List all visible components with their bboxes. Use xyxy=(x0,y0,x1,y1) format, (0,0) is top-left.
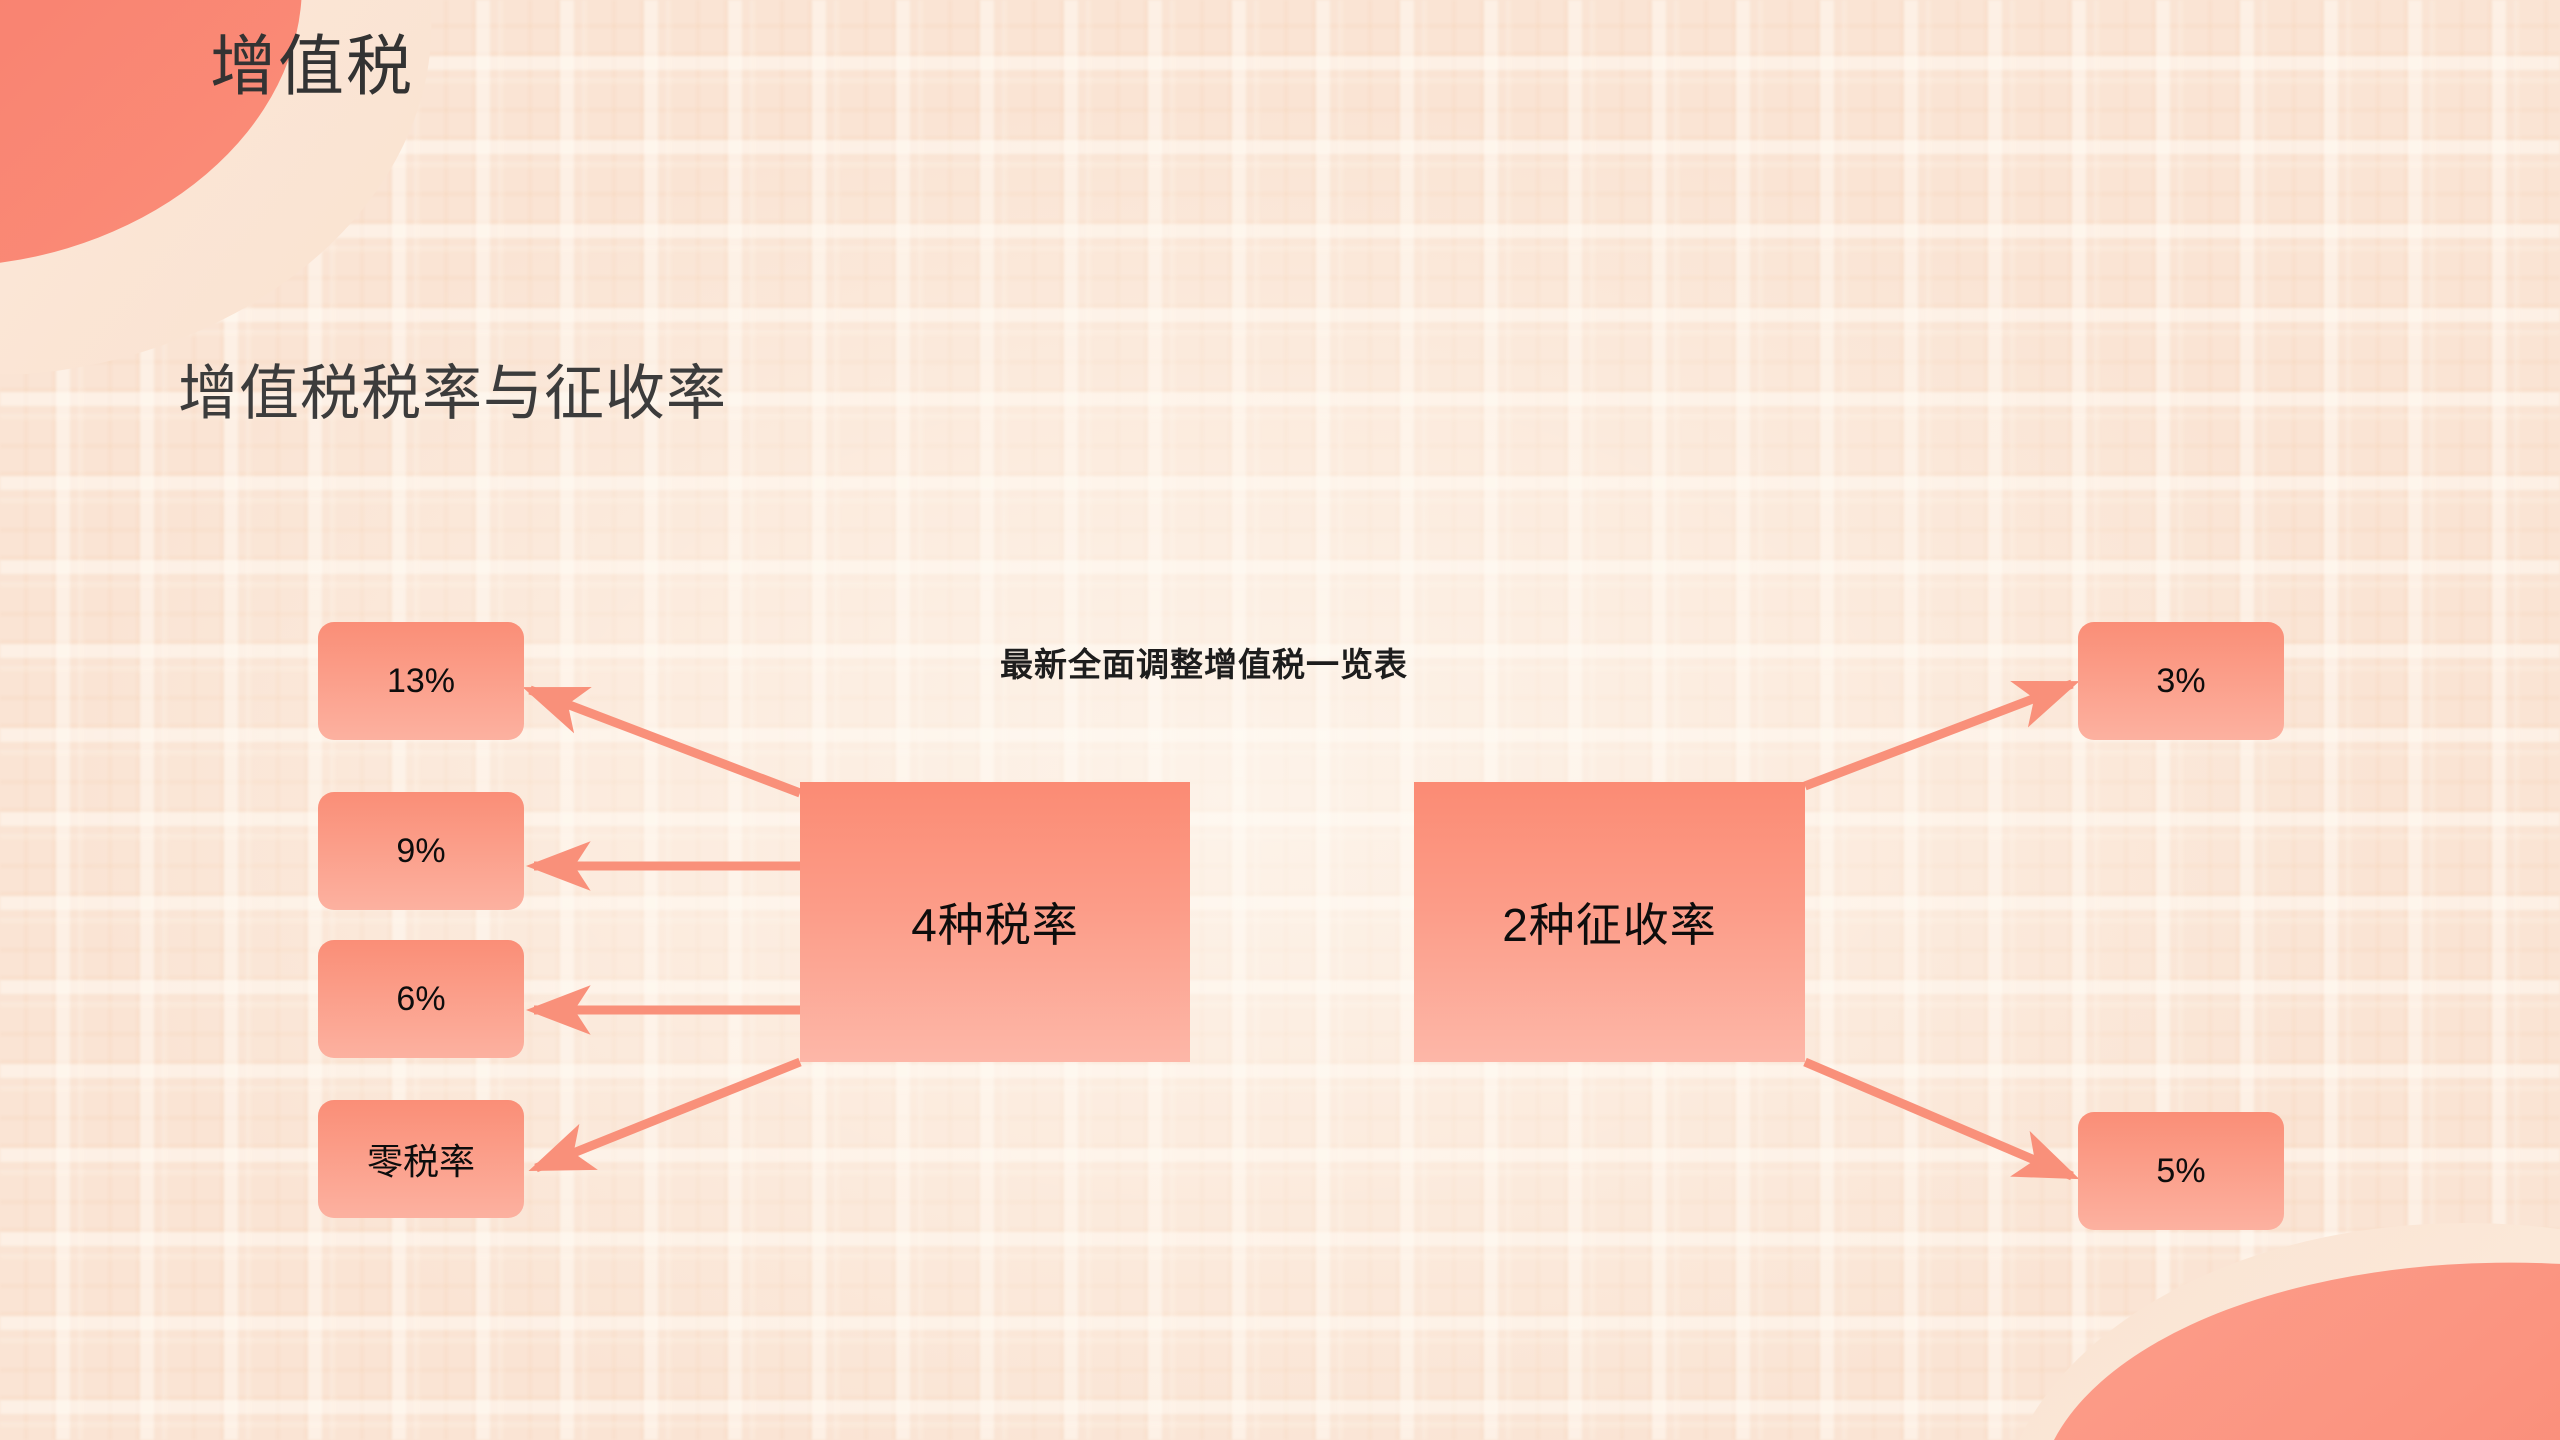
node-levy-rate-3-label: 3% xyxy=(2156,662,2205,701)
slide-canvas: 增值税 增值税税率与征收率 13% xyxy=(0,0,2560,1440)
rates-diagram: 13% 9% 6% 零税率 4种税率 2种征收率 3% 5% 最新全面调整增值税… xyxy=(0,0,2560,1440)
arrow-tax-rates-to-13 xyxy=(530,690,800,793)
arrow-tax-rates-to-zero xyxy=(536,1062,800,1168)
node-tax-rate-13[interactable]: 13% xyxy=(318,622,524,740)
diagram-caption: 最新全面调整增值税一览表 xyxy=(1000,645,1408,685)
node-tax-rate-zero[interactable]: 零税率 xyxy=(318,1100,524,1218)
arrow-levy-rates-to-5 xyxy=(1805,1062,2072,1176)
node-tax-rate-zero-label: 零税率 xyxy=(367,1133,475,1185)
node-tax-rate-13-label: 13% xyxy=(387,662,455,701)
node-levy-rate-3[interactable]: 3% xyxy=(2078,622,2284,740)
node-levy-rate-5-label: 5% xyxy=(2156,1152,2205,1191)
arrow-levy-rates-to-3 xyxy=(1805,684,2072,786)
node-tax-rate-6[interactable]: 6% xyxy=(318,940,524,1058)
node-hub-levy-rates-label: 2种征收率 xyxy=(1502,889,1717,955)
node-hub-levy-rates[interactable]: 2种征收率 xyxy=(1414,782,1805,1062)
node-tax-rate-9[interactable]: 9% xyxy=(318,792,524,910)
node-hub-tax-rates-label: 4种税率 xyxy=(911,889,1079,955)
node-levy-rate-5[interactable]: 5% xyxy=(2078,1112,2284,1230)
node-tax-rate-9-label: 9% xyxy=(396,832,445,871)
node-hub-tax-rates[interactable]: 4种税率 xyxy=(800,782,1190,1062)
node-tax-rate-6-label: 6% xyxy=(396,980,445,1019)
